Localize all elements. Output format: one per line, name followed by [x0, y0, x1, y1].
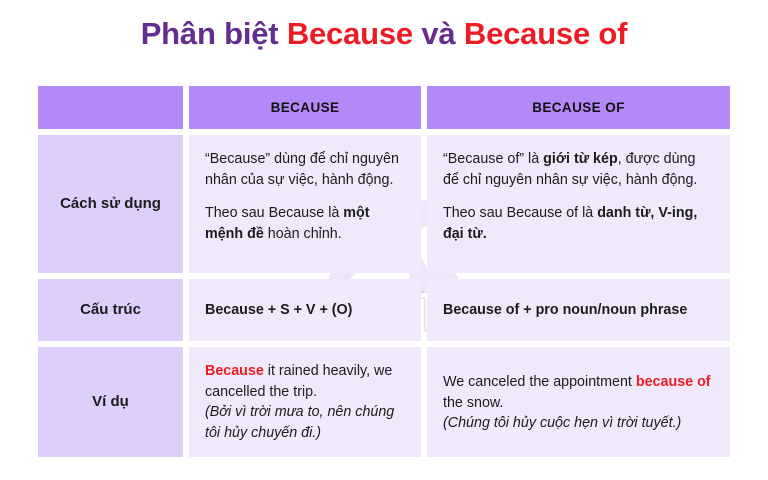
- cell-structure-because-of: Because of + pro noun/noun phrase: [427, 279, 730, 341]
- comparison-table: BECAUSE BECAUSE OF Cách sử dụng “Because…: [38, 86, 730, 463]
- table-row: Cách sử dụng “Because” dùng để chỉ nguyê…: [38, 135, 730, 273]
- row-label-structure: Cấu trúc: [38, 279, 183, 341]
- usage-becauseof-p2: Theo sau Because of là danh từ, V-ing, đ…: [443, 203, 714, 244]
- example-becauseof-block: We canceled the appointment because of t…: [443, 372, 714, 434]
- cell-structure-because: Because + S + V + (O): [189, 279, 421, 341]
- usage-because-p1: “Because” dùng để chỉ nguyên nhân của sự…: [205, 149, 405, 190]
- usage-becauseof-p1-bold: giới từ kép: [543, 151, 618, 167]
- example-becauseof-translation: (Chúng tôi hủy cuộc hẹn vì trời tuyết.): [443, 415, 681, 431]
- example-becauseof-rest: the snow.: [443, 395, 503, 411]
- title-part-va: và: [413, 16, 464, 51]
- usage-because-p2-a: Theo sau Because là: [205, 205, 343, 221]
- usage-because-p2-b: hoàn chỉnh.: [264, 226, 342, 242]
- example-becauseof-sentence: We canceled the appointment because of t…: [443, 372, 714, 413]
- title-part-phan-biet: Phân biệt: [141, 16, 287, 51]
- example-because-sentence: Because it rained heavily, we cancelled …: [205, 361, 405, 402]
- cell-usage-because-of: “Because of” là giới từ kép, được dùng đ…: [427, 135, 730, 273]
- header-cell-because: BECAUSE: [189, 86, 421, 129]
- cell-example-because-of: We canceled the appointment because of t…: [427, 347, 730, 457]
- usage-because-p2: Theo sau Because là một mệnh đề hoàn chỉ…: [205, 203, 405, 244]
- example-becauseof-highlight: because of: [636, 374, 711, 390]
- usage-becauseof-p2-a: Theo sau Because of là: [443, 205, 597, 221]
- cell-example-because: Because it rained heavily, we cancelled …: [189, 347, 421, 457]
- header-cell-blank: [38, 86, 183, 129]
- example-becauseof-pre: We canceled the appointment: [443, 374, 636, 390]
- example-because-translation-wrap: (Bởi vì trời mưa to, nên chúng tôi hủy c…: [205, 402, 405, 443]
- usage-becauseof-p1: “Because of” là giới từ kép, được dùng đ…: [443, 149, 714, 190]
- title-part-because: Because: [287, 16, 413, 51]
- cell-usage-because: “Because” dùng để chỉ nguyên nhân của sự…: [189, 135, 421, 273]
- structure-because-text: Because + S + V + (O): [205, 300, 352, 321]
- usage-becauseof-p1-a: “Because of” là: [443, 151, 543, 167]
- structure-becauseof-text: Because of + pro noun/noun phrase: [443, 300, 687, 321]
- table-row: Ví dụ Because it rained heavily, we canc…: [38, 347, 730, 457]
- example-because-translation: (Bởi vì trời mưa to, nên chúng tôi hủy c…: [205, 404, 394, 441]
- table-row: Cấu trúc Because + S + V + (O) Because o…: [38, 279, 730, 341]
- header-cell-because-of: BECAUSE OF: [427, 86, 730, 129]
- usage-because-p1-text: “Because” dùng để chỉ nguyên nhân của sự…: [205, 151, 399, 188]
- table-header-row: BECAUSE BECAUSE OF: [38, 86, 730, 129]
- row-label-example: Ví dụ: [38, 347, 183, 457]
- page-title: Phân biệt Because và Because of: [0, 16, 768, 52]
- title-part-because-of: Because of: [464, 16, 627, 51]
- example-because-highlight: Because: [205, 363, 264, 379]
- example-becauseof-translation-wrap: (Chúng tôi hủy cuộc hẹn vì trời tuyết.): [443, 413, 714, 434]
- row-label-usage: Cách sử dụng: [38, 135, 183, 273]
